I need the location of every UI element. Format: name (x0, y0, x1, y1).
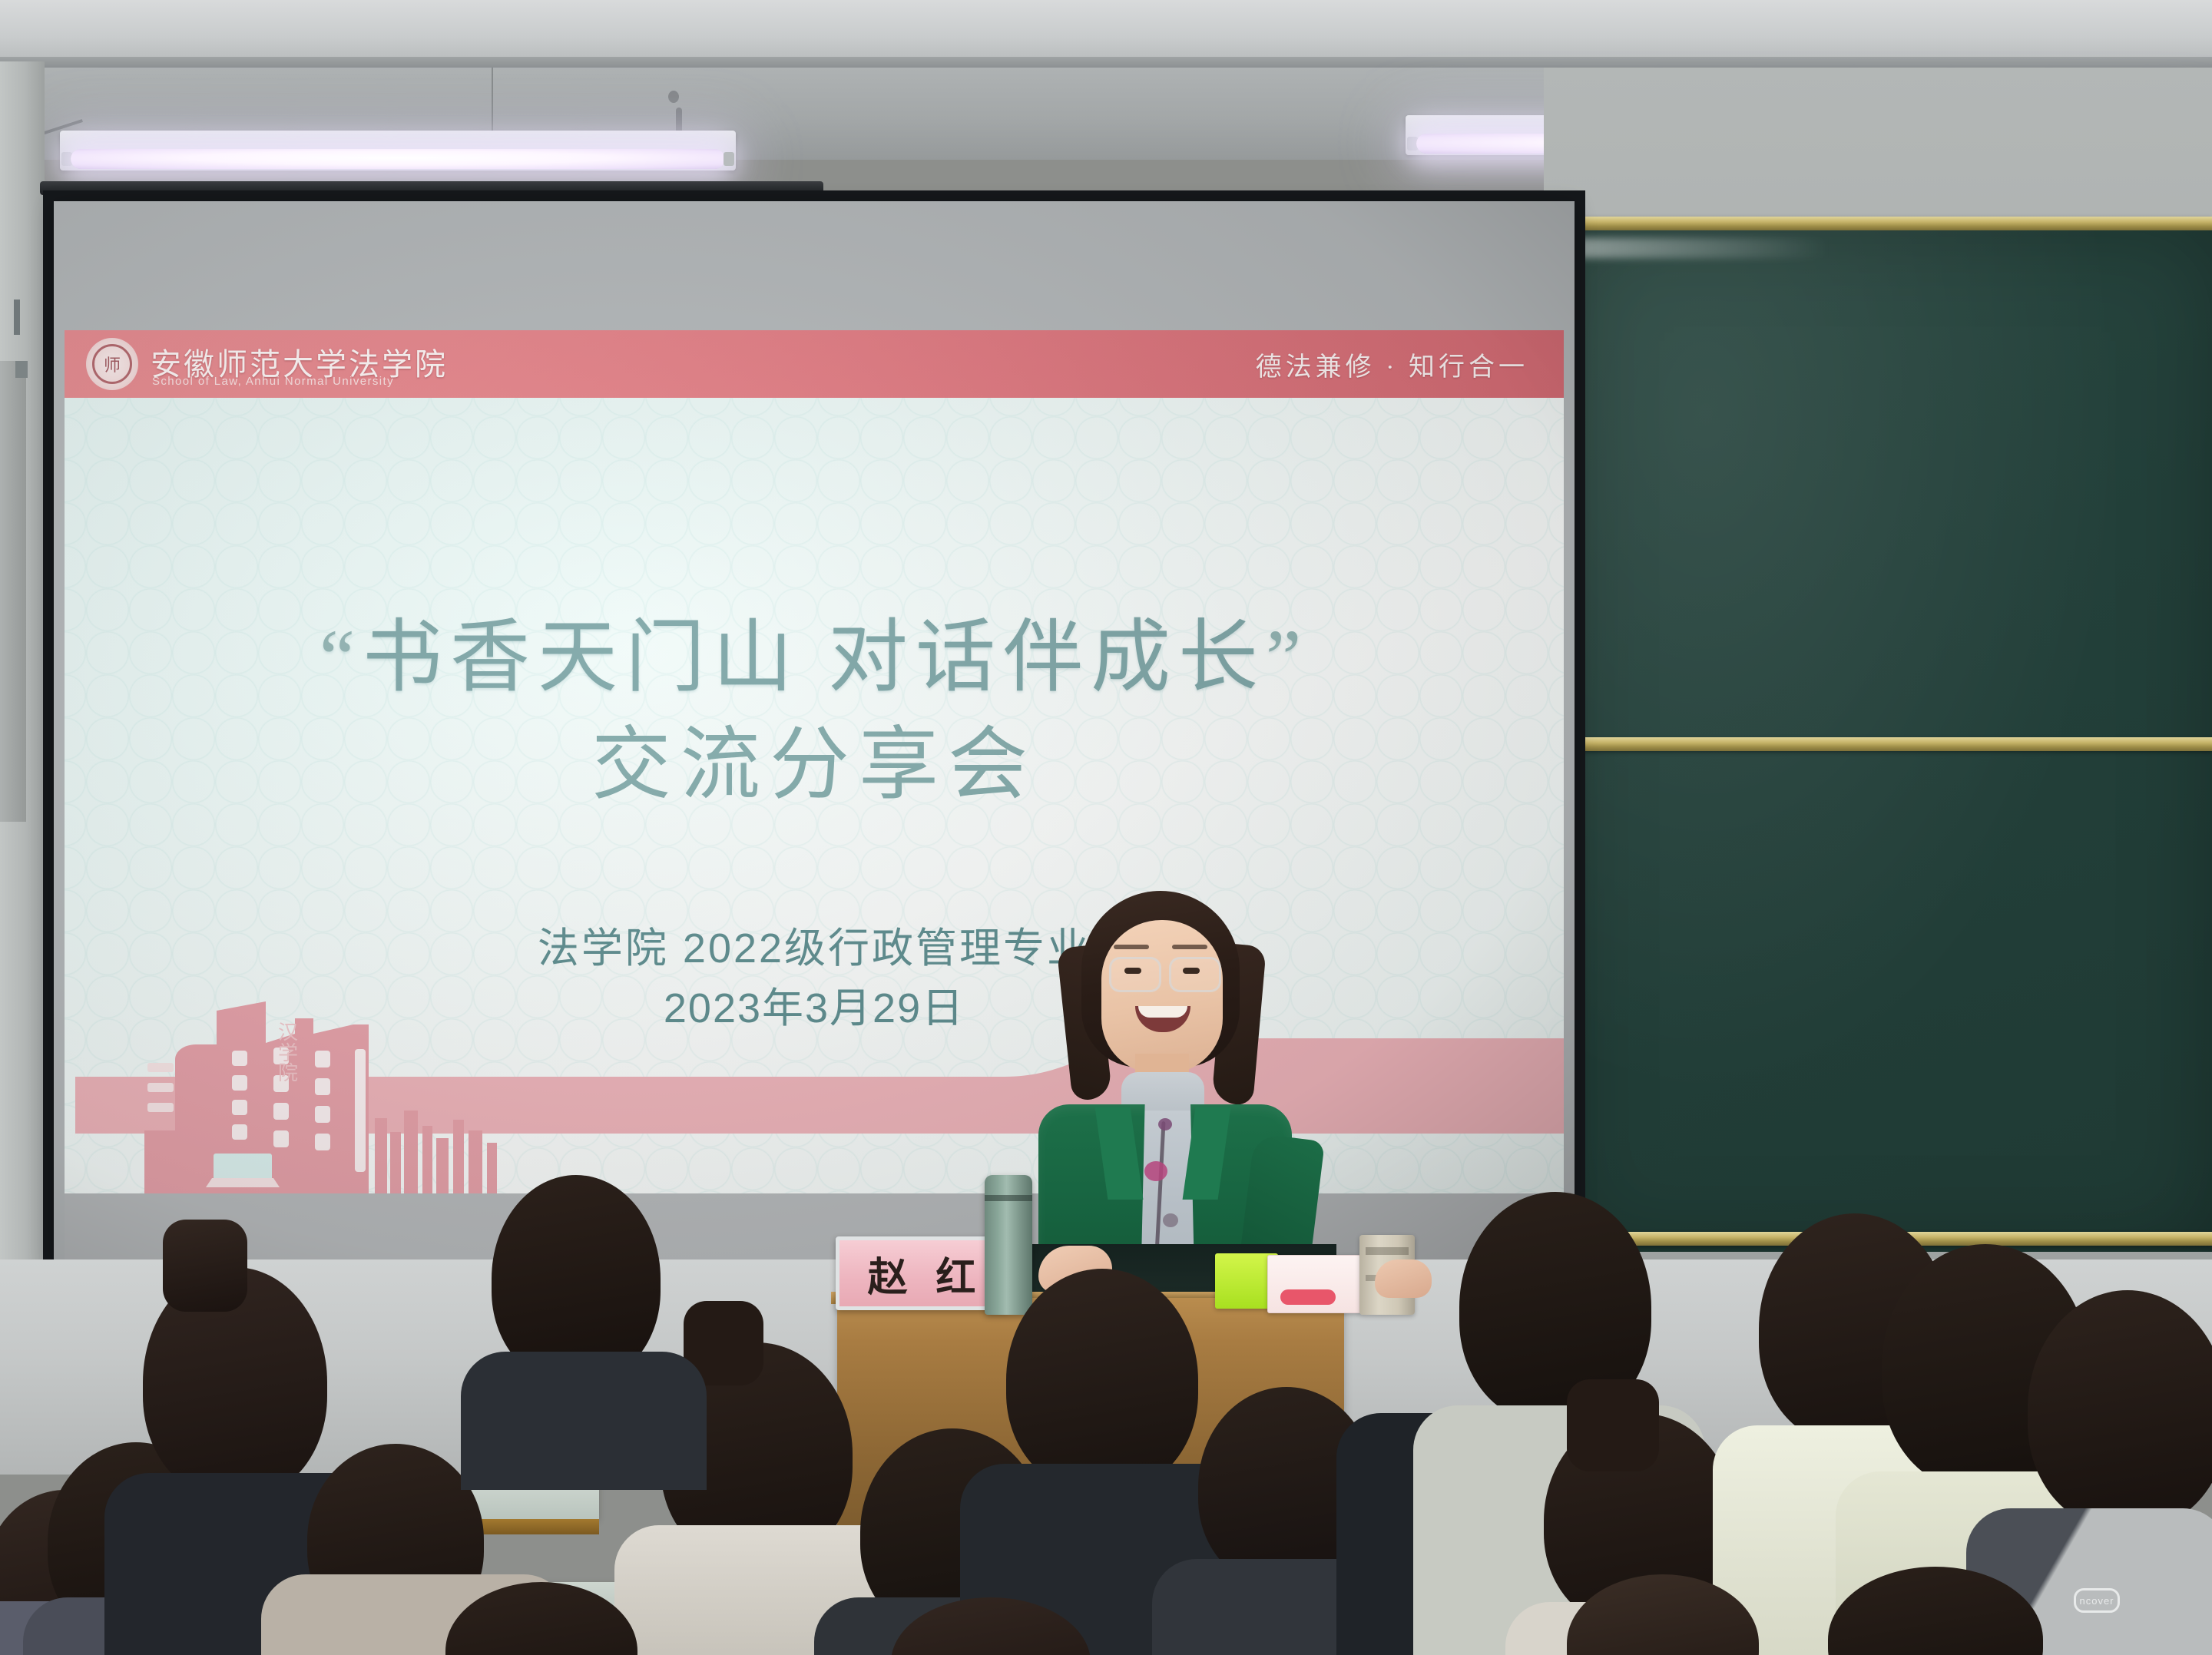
slide-motto: 德法兼修 · 知行合一 (1256, 346, 1528, 383)
building-silhouette (131, 968, 515, 1198)
chalkboard-light-spill (1575, 238, 1828, 258)
open-quote: “ (320, 614, 363, 702)
chalkboard-rail-middle (1558, 737, 2212, 751)
box-graphic (1280, 1289, 1336, 1305)
floral-motif (1163, 1213, 1178, 1227)
projection-screen: “书香天门山 对话伴成长” 交流分享会 法学院 2022级行政管理专业 2023… (54, 201, 1575, 1259)
floral-motif (1158, 1118, 1172, 1130)
lamp-cap (724, 152, 734, 166)
close-quote: ” (1266, 614, 1309, 702)
ceiling-speck (668, 91, 679, 103)
name-plate: 赵 红 (836, 1236, 1008, 1310)
slide-title-line1: “书香天门山 对话伴成长” (65, 607, 1564, 709)
eye-left (1124, 968, 1141, 974)
jacket-logo: ncover (2074, 1588, 2120, 1613)
fluorescent-lamp-left (60, 131, 736, 170)
teeth (1138, 1006, 1187, 1018)
presentation-slide: “书香天门山 对话伴成长” 交流分享会 法学院 2022级行政管理专业 2023… (54, 201, 1575, 1259)
ceiling (0, 0, 2212, 61)
classroom-scene: “书香天门山 对话伴成长” 交流分享会 法学院 2022级行政管理专业 2023… (0, 0, 2212, 1655)
student-head (1006, 1269, 1198, 1491)
thermos-band (985, 1195, 1032, 1201)
can-label-line (1366, 1247, 1409, 1255)
wall-bracket (15, 361, 28, 378)
slide-body: “书香天门山 对话伴成长” 交流分享会 法学院 2022级行政管理专业 2023… (65, 330, 1564, 1198)
lamp-tube (71, 149, 725, 169)
eyeglass-right (1169, 957, 1221, 992)
floral-motif (1144, 1161, 1167, 1181)
campus-building-illustration: 汉学院 (131, 968, 515, 1198)
thermos-flask (985, 1175, 1032, 1315)
slide-title-line2: 交流分享会 (65, 714, 1564, 816)
seal-glyph: 师 (104, 352, 121, 376)
ponytail (1567, 1379, 1659, 1471)
building-label: 汉学院 (278, 1023, 309, 1084)
student-body (461, 1352, 707, 1490)
university-seal-icon: 师 (86, 338, 138, 390)
eyebrow-left (1114, 945, 1149, 949)
slide-title-text: 书香天门山 对话伴成长 (363, 614, 1266, 702)
seal-ring: 师 (92, 344, 132, 384)
slide-header-band: 师 安徽师范大学法学院 School of Law, Anhui Normal … (65, 330, 1564, 398)
student-head (2028, 1290, 2212, 1528)
nameplate-surname: 赵 (868, 1245, 908, 1302)
slide-subtitle-class: 法学院 2022级行政管理专业 (65, 914, 1564, 975)
chalkboard-rail-top (1558, 217, 2212, 230)
ponytail (163, 1220, 247, 1312)
wall-bracket (14, 300, 20, 335)
eyeglass-left (1109, 957, 1161, 992)
eyebrow-right (1172, 945, 1207, 949)
slide-footer-band (65, 1193, 1564, 1259)
pink-white-box (1267, 1255, 1361, 1313)
face (1101, 920, 1223, 1074)
institution-name-en: School of Law, Anhui Normal University (152, 375, 394, 388)
left-wall-shadow (0, 361, 26, 822)
eye-right (1183, 968, 1200, 974)
ceiling-hook (676, 108, 682, 134)
nameplate-given-name: 红 (935, 1245, 975, 1302)
